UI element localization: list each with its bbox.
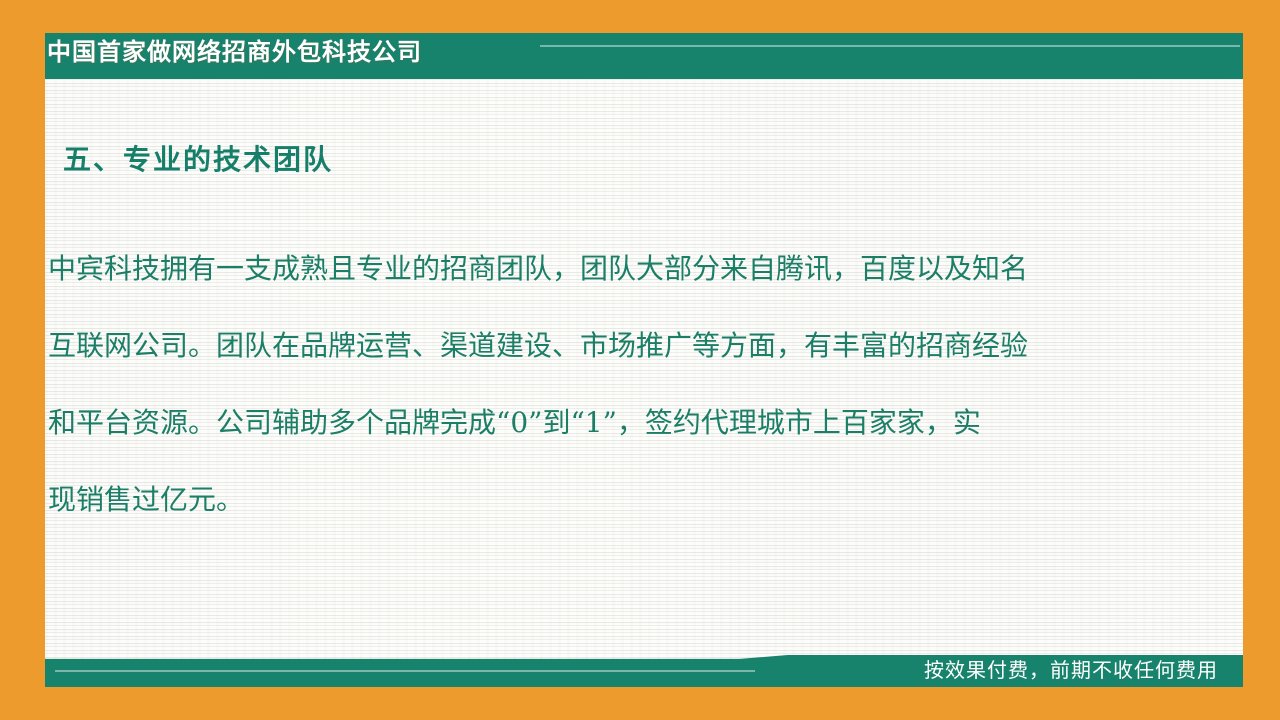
paragraph-line: 和平台资源。公司辅助多个品牌完成“0”到“1”，签约代理城市上百家家，实 bbox=[48, 384, 1183, 461]
header-divider-line bbox=[540, 45, 1240, 47]
paragraph-line: 互联网公司。团队在品牌运营、渠道建设、市场推广等方面，有丰富的招商经验 bbox=[48, 307, 1183, 384]
paragraph-line: 中宾科技拥有一支成熟且专业的招商团队，团队大部分来自腾讯，百度以及知名 bbox=[48, 230, 1183, 307]
footer-slogan: 按效果付费，前期不收任何费用 bbox=[924, 655, 1218, 687]
footer-divider-line bbox=[55, 670, 755, 672]
header-banner-title: 中国首家做网络招商外包科技公司 bbox=[47, 36, 422, 70]
slide-canvas: 中国首家做网络招商外包科技公司 五、专业的技术团队 中宾科技拥有一支成熟且专业的… bbox=[0, 0, 1280, 720]
paragraph-line: 现销售过亿元。 bbox=[48, 461, 1183, 538]
page-title: 五、专业的技术团队 bbox=[63, 138, 333, 178]
body-paragraph: 中宾科技拥有一支成熟且专业的招商团队，团队大部分来自腾讯，百度以及知名 互联网公… bbox=[48, 230, 1183, 538]
